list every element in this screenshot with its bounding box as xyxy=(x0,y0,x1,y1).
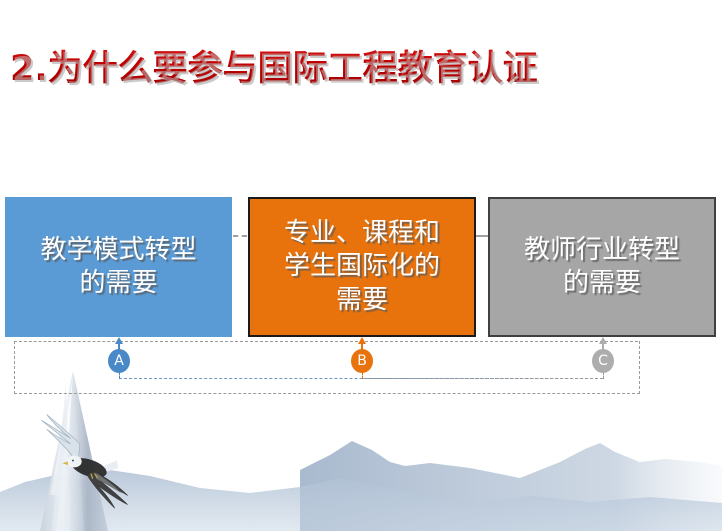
marker-label-a: A xyxy=(114,353,124,369)
content-box-orange-line2: 学生国际化的 xyxy=(284,250,440,283)
marker-badge-b[interactable]: B xyxy=(351,349,373,373)
content-box-blue-line2: 的需要 xyxy=(40,267,196,300)
marker-badge-c[interactable]: C xyxy=(592,349,614,373)
marker-label-c: C xyxy=(598,353,608,369)
content-box-orange-line1: 专业、课程和 xyxy=(284,217,440,250)
content-box-orange-line3: 需要 xyxy=(284,284,440,317)
content-box-gray-line2: 的需要 xyxy=(524,267,680,300)
connector-line-b-to-c xyxy=(362,378,603,379)
marker-label-b: B xyxy=(357,353,367,369)
box-link-blue-orange xyxy=(233,235,247,237)
content-box-orange[interactable]: 专业、课程和 学生国际化的 需要 xyxy=(248,197,476,337)
box-link-orange-gray xyxy=(476,235,488,237)
arrow-head-b-icon xyxy=(358,337,366,344)
arrow-head-c-icon xyxy=(599,337,607,344)
page-title: 2.为什么要参与国际工程教育认证 xyxy=(10,40,538,91)
marker-badge-a[interactable]: A xyxy=(108,349,130,373)
slide-canvas: 2.为什么要参与国际工程教育认证 2.为什么要参与国际工程教育认证 A B C … xyxy=(0,0,722,531)
content-box-gray-line1: 教师行业转型 xyxy=(524,234,680,267)
content-box-blue[interactable]: 教学模式转型 的需要 xyxy=(5,197,232,337)
content-box-gray[interactable]: 教师行业转型 的需要 xyxy=(488,197,716,337)
content-box-blue-line1: 教学模式转型 xyxy=(40,234,196,267)
arrow-head-a-icon xyxy=(115,337,123,344)
dashed-frame xyxy=(14,341,640,394)
